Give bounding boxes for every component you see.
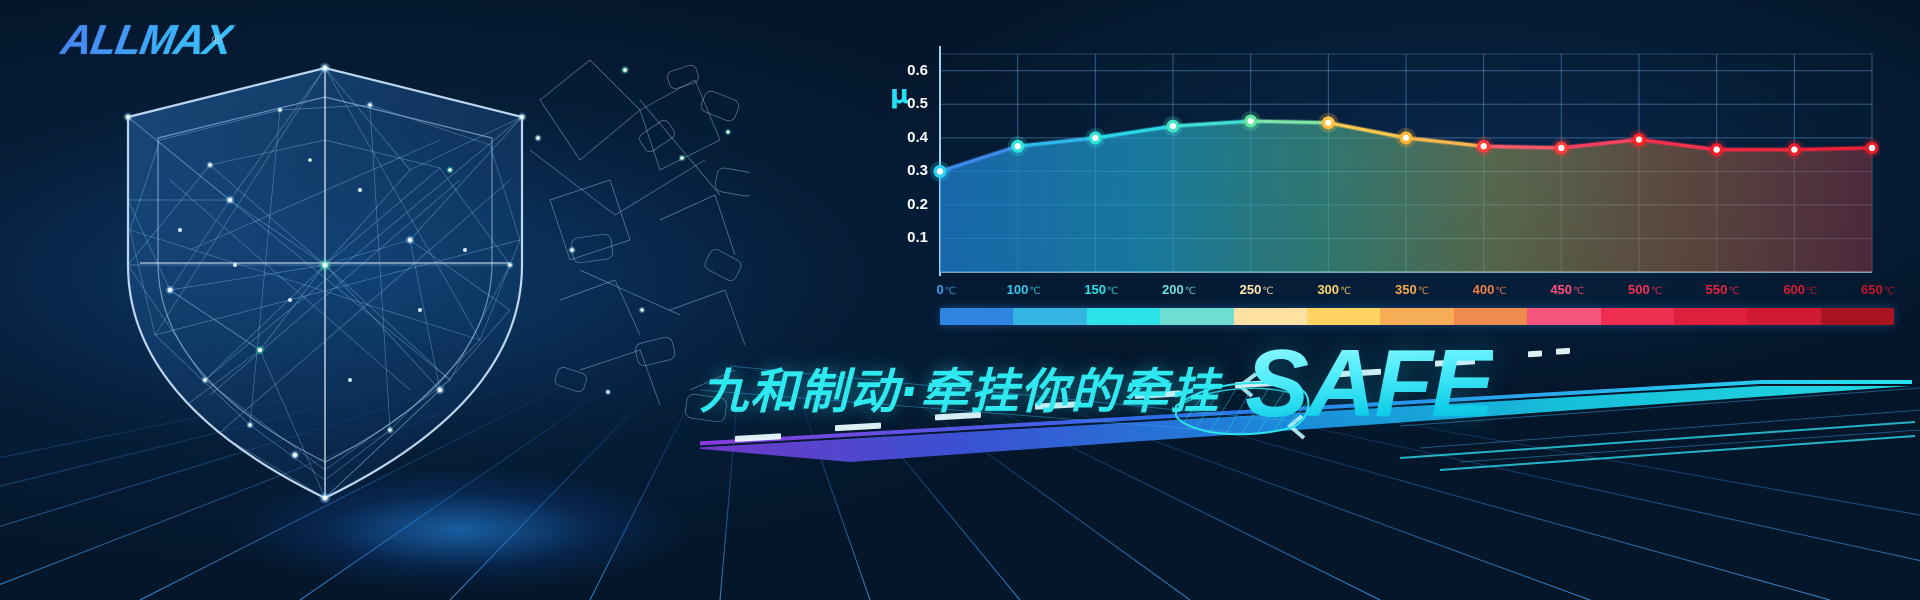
colorbar-segment — [1527, 308, 1600, 325]
y-axis-tick: 0.6 — [884, 62, 928, 79]
x-axis-tick: 250℃ — [1240, 282, 1274, 297]
y-axis-tick: 0.5 — [884, 95, 928, 112]
colorbar-segment — [1234, 308, 1307, 325]
x-axis-tick: 0℃ — [937, 282, 956, 297]
colorbar-segment — [1747, 308, 1820, 325]
colorbar-segment — [1087, 308, 1160, 325]
slogan-block: 九和制动·牵挂你的牵挂 SAFE — [700, 330, 1920, 480]
slogan-chinese-text: 九和制动·牵挂你的牵挂 — [700, 352, 1220, 422]
colorbar-segment — [1601, 308, 1674, 325]
friction-temperature-chart: μ 0.60.50.40.30.20.1 0℃100℃150℃200℃250℃3… — [880, 40, 1880, 330]
temperature-colorbar — [940, 308, 1894, 325]
y-axis-tick: 0.4 — [884, 129, 928, 146]
colorbar-segment — [1380, 308, 1453, 325]
x-axis-tick: 100℃ — [1007, 282, 1041, 297]
x-axis-tick: 600℃ — [1783, 282, 1817, 297]
colorbar-segment — [1454, 308, 1527, 325]
x-axis-tick: 300℃ — [1317, 282, 1351, 297]
y-axis-tick: 0.2 — [884, 196, 928, 213]
colorbar-segment — [1013, 308, 1086, 325]
x-axis-tick: 500℃ — [1628, 282, 1662, 297]
x-axis-tick: 150℃ — [1084, 282, 1118, 297]
x-axis-tick: 200℃ — [1162, 282, 1196, 297]
chart-plot-area — [880, 40, 1880, 290]
x-axis-tick: 400℃ — [1473, 282, 1507, 297]
x-axis-tick: 650℃ — [1861, 282, 1895, 297]
wireframe-shield-icon — [90, 30, 750, 540]
colorbar-segment — [1674, 308, 1747, 325]
promo-banner: ALLMAX ® — [0, 0, 1920, 600]
colorbar-segment — [940, 308, 1013, 325]
x-axis-tick: 350℃ — [1395, 282, 1429, 297]
y-axis-tick: 0.3 — [884, 162, 928, 179]
colorbar-segment — [1307, 308, 1380, 325]
x-axis-tick: 550℃ — [1706, 282, 1740, 297]
colorbar-segment — [1160, 308, 1233, 325]
slogan-safe-text: SAFE — [1245, 336, 1493, 432]
x-axis-tick: 450℃ — [1550, 282, 1584, 297]
y-axis-tick: 0.1 — [884, 229, 928, 246]
colorbar-segment — [1821, 308, 1894, 325]
